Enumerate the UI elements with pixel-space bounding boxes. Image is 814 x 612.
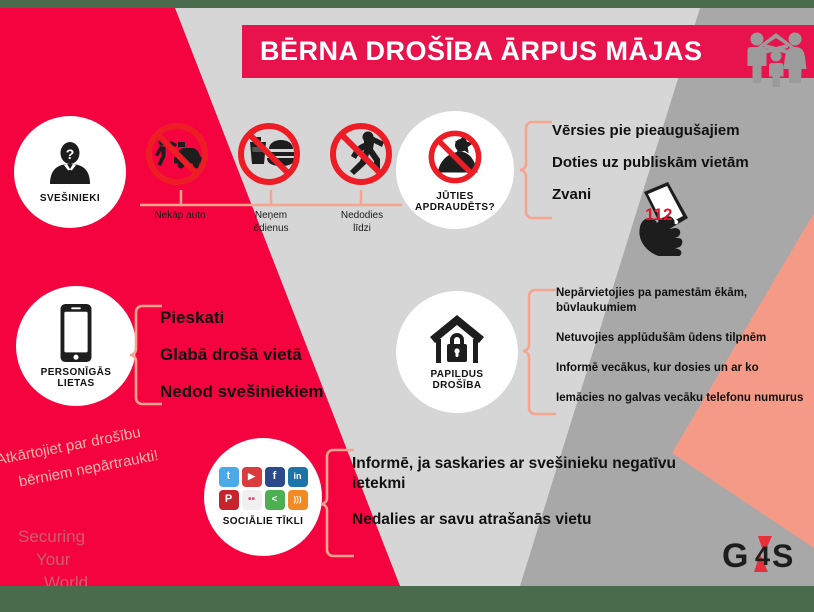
timeline-labels: Nekāp auto Neņem ēdienus Nedodies līdzi — [140, 210, 402, 235]
bullet-extra-1: Netuvojies applūdušām ūdens tilpnēm — [556, 331, 814, 346]
bracket-personal — [128, 304, 164, 406]
bullet-threat-0: Vērsies pie pieaugušajiem — [552, 122, 814, 139]
youtube-icon[interactable]: ▶ — [242, 467, 262, 487]
bullet-social-1: Nedalies ar savu atrašanās vietu — [352, 510, 682, 530]
timeline-label-2-line1: Nedodies — [322, 210, 402, 223]
svg-text:?: ? — [66, 146, 75, 162]
facebook-icon[interactable]: f — [265, 467, 285, 487]
node-social-label: SOCIĀLIE TĪKLI — [223, 516, 304, 528]
tagline-line2: Your — [18, 549, 88, 572]
node-extra-label-line1: PAPILDUS — [430, 369, 483, 381]
no-taking-food-icon — [236, 121, 302, 187]
stranger-person-icon: ? — [45, 139, 95, 189]
node-threat-label: JŪTIES APDRAUDĒTS? — [415, 191, 495, 214]
infographic-poster: BĒRNA DROŠĪBA ĀRPUS MĀJAS ? SVEŠINIEK — [0, 8, 814, 586]
node-personal[interactable]: PERSONĪGĀS LIETAS — [16, 286, 136, 406]
timeline-label-1-line1: Neņem — [231, 210, 311, 223]
flickr-icon[interactable]: •• — [242, 490, 262, 510]
timeline-label-0: Nekāp auto — [140, 210, 220, 235]
family-house-icon — [742, 27, 810, 87]
node-threat-label-line1: JŪTIES — [415, 191, 495, 203]
no-going-along-icon — [328, 121, 394, 187]
logo-letter-s: S — [772, 538, 793, 574]
bullets-personal: Pieskati Glabā drošā vietā Nedod svešini… — [160, 308, 400, 419]
node-extra-label: PAPILDUS DROŠĪBA — [430, 369, 483, 392]
bullet-personal-0: Pieskati — [160, 308, 400, 328]
bullets-social: Informē, ja saskaries ar svešinieku nega… — [352, 454, 682, 546]
header-bar: BĒRNA DROŠĪBA ĀRPUS MĀJAS — [242, 25, 814, 78]
bullets-extra: Nepārvietojies pa pamestām ēkām, būvlauk… — [556, 286, 814, 421]
bracket-social — [318, 448, 356, 560]
bracket-threat — [518, 120, 554, 220]
node-personal-label-line2: LIETAS — [41, 378, 112, 390]
node-extra-label-line2: DROŠĪBA — [430, 380, 483, 392]
emergency-number: 112 — [645, 205, 672, 225]
timeline-label-0-line1: Nekāp auto — [140, 210, 220, 223]
timeline-label-1: Neņem ēdienus — [231, 210, 311, 235]
bullet-personal-1: Glabā drošā vietā — [160, 345, 400, 365]
pinterest-icon[interactable]: P — [219, 490, 239, 510]
node-strangers-label: SVEŠINIEKI — [40, 193, 100, 205]
timeline-label-1-line2: ēdienus — [231, 223, 311, 236]
node-threat-label-line2: APDRAUDĒTS? — [415, 202, 495, 214]
twitter-icon[interactable]: t — [219, 467, 239, 487]
bullet-extra-3: Iemācies no galvas vecāku telefonu numur… — [556, 391, 814, 406]
node-personal-label: PERSONĪGĀS LIETAS — [41, 367, 112, 390]
no-entering-car-icon — [144, 121, 210, 187]
tagline-line3: World — [18, 572, 88, 586]
node-extra[interactable]: PAPILDUS DROŠĪBA — [396, 291, 518, 413]
social-icon-grid: t ▶ f in P •• < ))) — [219, 467, 308, 510]
bullet-personal-2: Nedod svešiniekiem — [160, 382, 400, 402]
timeline-ruler — [140, 190, 402, 208]
bullet-threat-1: Doties uz publiskām vietām — [552, 154, 814, 171]
logo-letter-g: G — [722, 537, 748, 575]
node-strangers[interactable]: ? SVEŠINIEKI — [14, 116, 126, 228]
brand-tagline: Securing Your World — [18, 526, 88, 586]
bullet-extra-2: Informē vecākus, kur dosies un ar ko — [556, 361, 814, 376]
page-title: BĒRNA DROŠĪBA ĀRPUS MĀJAS — [260, 36, 703, 67]
logo-letter-4: 4 — [755, 541, 770, 571]
timeline-label-2-line2: līdzi — [322, 223, 402, 236]
node-personal-label-line1: PERSONĪGĀS — [41, 367, 112, 379]
bullet-extra-0: Nepārvietojies pa pamestām ēkām, būvlauk… — [556, 286, 814, 316]
tagline-line1: Securing — [18, 526, 88, 549]
prohibition-icon-row — [144, 118, 394, 190]
g4s-logo: G 4 S — [720, 532, 800, 576]
rss-icon[interactable]: ))) — [288, 490, 308, 510]
linkedin-icon[interactable]: in — [288, 467, 308, 487]
share-icon[interactable]: < — [265, 490, 285, 510]
node-threat[interactable]: JŪTIES APDRAUDĒTS? — [396, 111, 514, 229]
smartphone-icon — [57, 303, 95, 363]
bracket-extra — [520, 288, 558, 418]
no-bullying-icon — [425, 127, 485, 187]
house-lock-icon — [428, 313, 486, 365]
bullet-social-0: Informē, ja saskaries ar svešinieku nega… — [352, 454, 682, 494]
timeline-label-2: Nedodies līdzi — [322, 210, 402, 235]
